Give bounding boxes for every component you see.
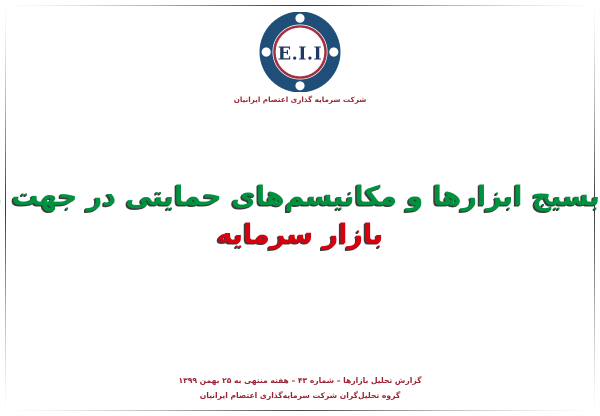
slide-header: E.I.I شرکت سرمایه گذاری اعتصام ایرانیان (0, 12, 600, 105)
slide-footer: گزارش تحلیل بازارها – شماره ۴۳ – هفته من… (0, 374, 600, 404)
frame-border-top (5, 5, 595, 6)
presentation-slide: E.I.I شرکت سرمایه گذاری اعتصام ایرانیان … (0, 0, 600, 416)
slide-title-block: بسیج ابزارها و مکانیسم‌های حمایتی در جهت… (0, 178, 600, 255)
logo-monogram-text: E.I.I (278, 45, 322, 65)
slide-title-line-1: بسیج ابزارها و مکانیسم‌های حمایتی در جهت… (0, 178, 600, 216)
company-name-label: شرکت سرمایه گذاری اعتصام ایرانیان (234, 96, 367, 105)
frame-border-bottom (5, 410, 595, 411)
footer-author-group: گروه تحلیل‌گران شرکت سرمایه‌گذاری اعتصام… (0, 389, 600, 404)
slide-title-line-2: بازار سرمایه (0, 216, 600, 254)
footer-report-reference: گزارش تحلیل بازارها – شماره ۴۳ – هفته من… (0, 374, 600, 389)
eii-company-logo-icon: E.I.I (258, 12, 342, 92)
